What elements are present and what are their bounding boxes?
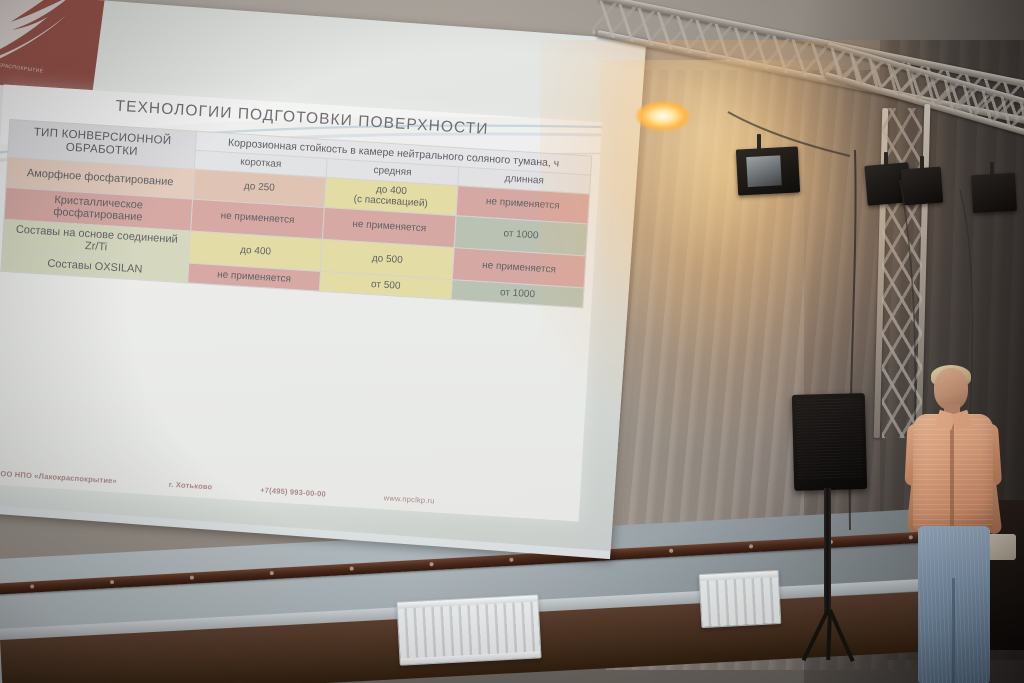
footer-url: www.npclkp.ru — [383, 493, 434, 505]
surface-prep-table: ТИП КОНВЕРСИОННОЙ ОБРАБОТКИ Коррозионная… — [0, 119, 592, 308]
photo-scene: ЛАКОКРАСПОКРЫТИЕ ТЕХНОЛОГИИ ПОДГОТОВКИ П… — [0, 0, 1024, 683]
speaker-stand-pole — [824, 488, 831, 616]
screen-surface: ЛАКОКРАСПОКРЫТИЕ ТЕХНОЛОГИИ ПОДГОТОВКИ П… — [0, 0, 646, 551]
footer-city: г. Хотьково — [169, 480, 213, 492]
radiator-left — [396, 594, 541, 665]
jeans-inseam — [952, 578, 955, 683]
pa-speaker — [792, 393, 867, 491]
logo-swoosh-icon — [0, 0, 105, 97]
projection-screen: ЛАКОКРАСПОКРЫТИЕ ТЕХНОЛОГИИ ПОДГОТОВКИ П… — [0, 0, 646, 569]
footer-phone: +7(495) 993-00-00 — [260, 485, 326, 498]
shirt-placket — [950, 418, 954, 528]
slide-footer: ООО НПО «Лакокраспокрытие» г. Хотьково +… — [0, 468, 580, 515]
speaker-grill — [796, 398, 863, 480]
presenter — [900, 368, 1010, 683]
slide-content: ТЕХНОЛОГИИ ПОДГОТОВКИ ПОВЕРХНОСТИ ТИП КО… — [0, 85, 602, 522]
company-logo: ЛАКОКРАСПОКРЫТИЕ — [0, 0, 105, 97]
footer-company: ООО НПО «Лакокраспокрытие» — [0, 469, 117, 486]
